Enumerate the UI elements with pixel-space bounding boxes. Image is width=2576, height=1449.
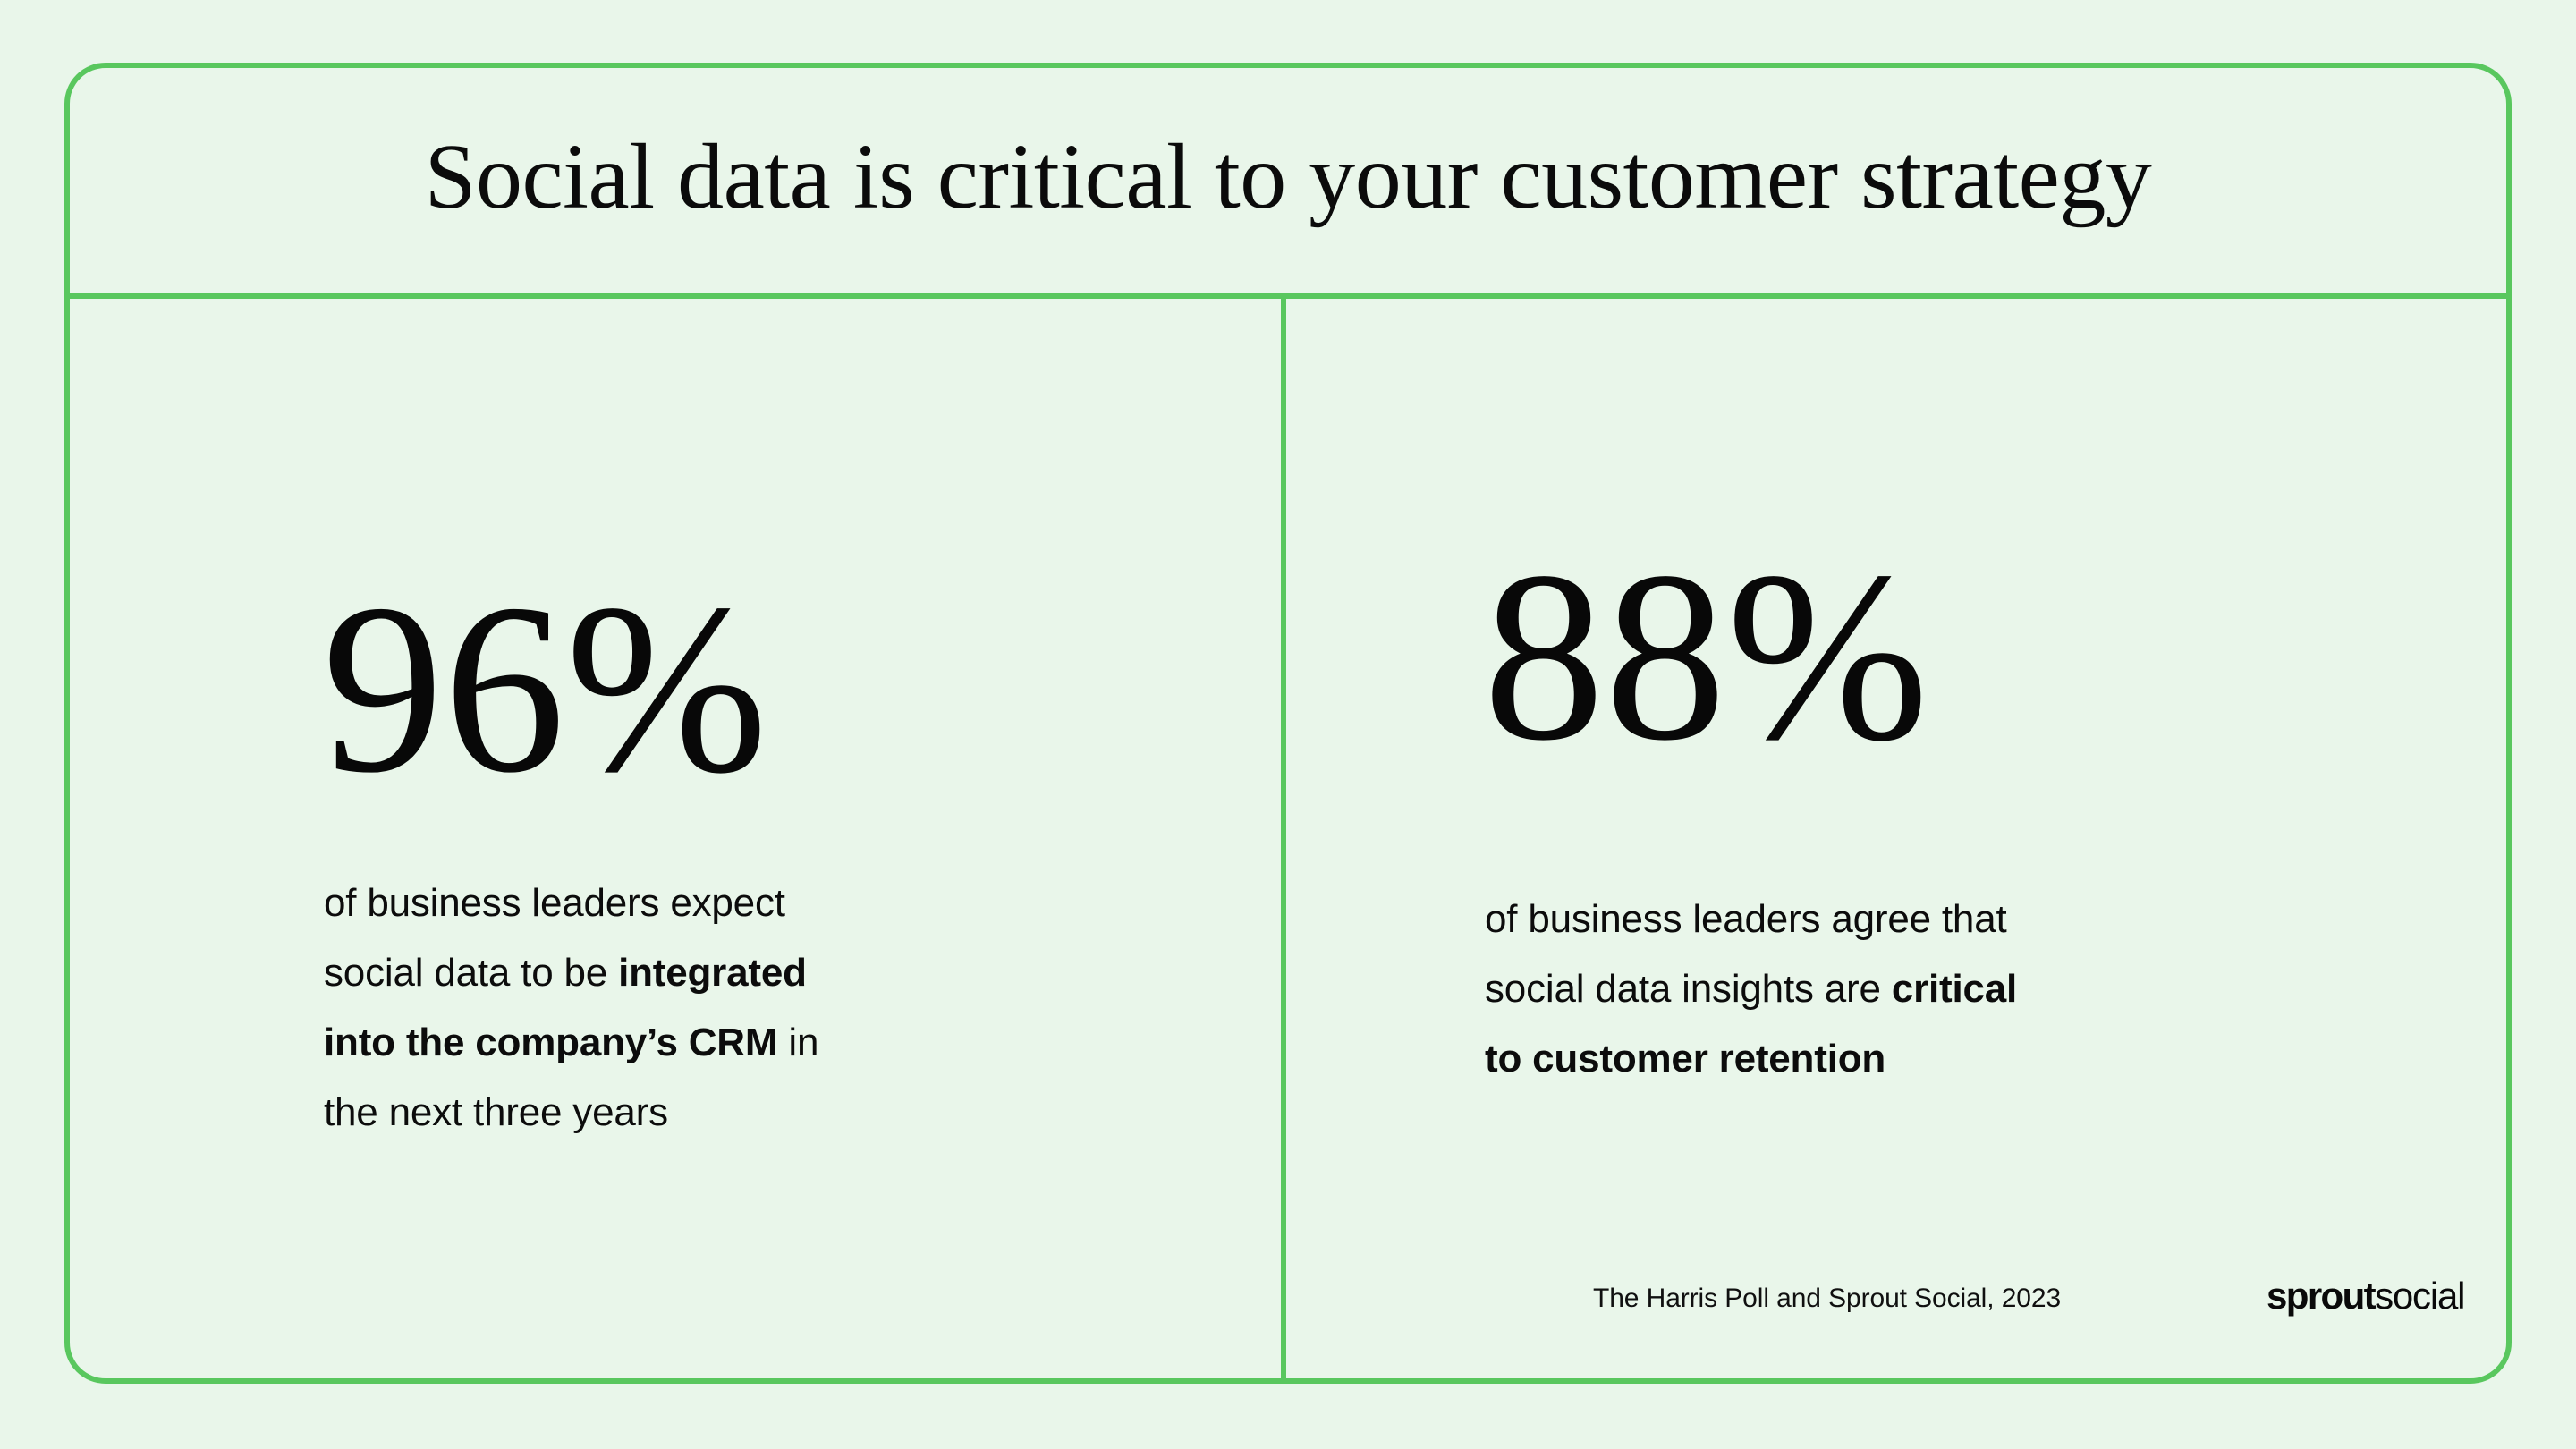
stat-panel-customer-retention: 88% of business leaders agree that socia… xyxy=(1286,299,2506,1378)
stat-description-crm-integration: of business leaders expect social data t… xyxy=(324,869,878,1148)
card-header: Social data is critical to your customer… xyxy=(70,68,2506,299)
stat-description-customer-retention: of business leaders agree that social da… xyxy=(1485,885,2057,1094)
logo-wordmark-light: social xyxy=(2375,1275,2464,1317)
stat-value-88-percent: 88% xyxy=(1483,535,1929,778)
source-attribution: The Harris Poll and Sprout Social, 2023 xyxy=(1593,1284,2061,1314)
sprout-social-logo: sproutsocial xyxy=(2267,1276,2464,1325)
stat-card: Social data is critical to your customer… xyxy=(64,63,2512,1384)
card-footer: The Harris Poll and Sprout Social, 2023 … xyxy=(1356,1242,2506,1378)
page-title: Social data is critical to your customer… xyxy=(425,128,2152,233)
infographic-canvas: Social data is critical to your customer… xyxy=(0,0,2576,1449)
stat-value-96-percent: 96% xyxy=(322,567,768,810)
stat-panel-crm-integration: 96% of business leaders expect social da… xyxy=(70,299,1286,1378)
logo-wordmark-bold: sprout xyxy=(2267,1275,2375,1317)
stats-row: 96% of business leaders expect social da… xyxy=(70,299,2506,1378)
